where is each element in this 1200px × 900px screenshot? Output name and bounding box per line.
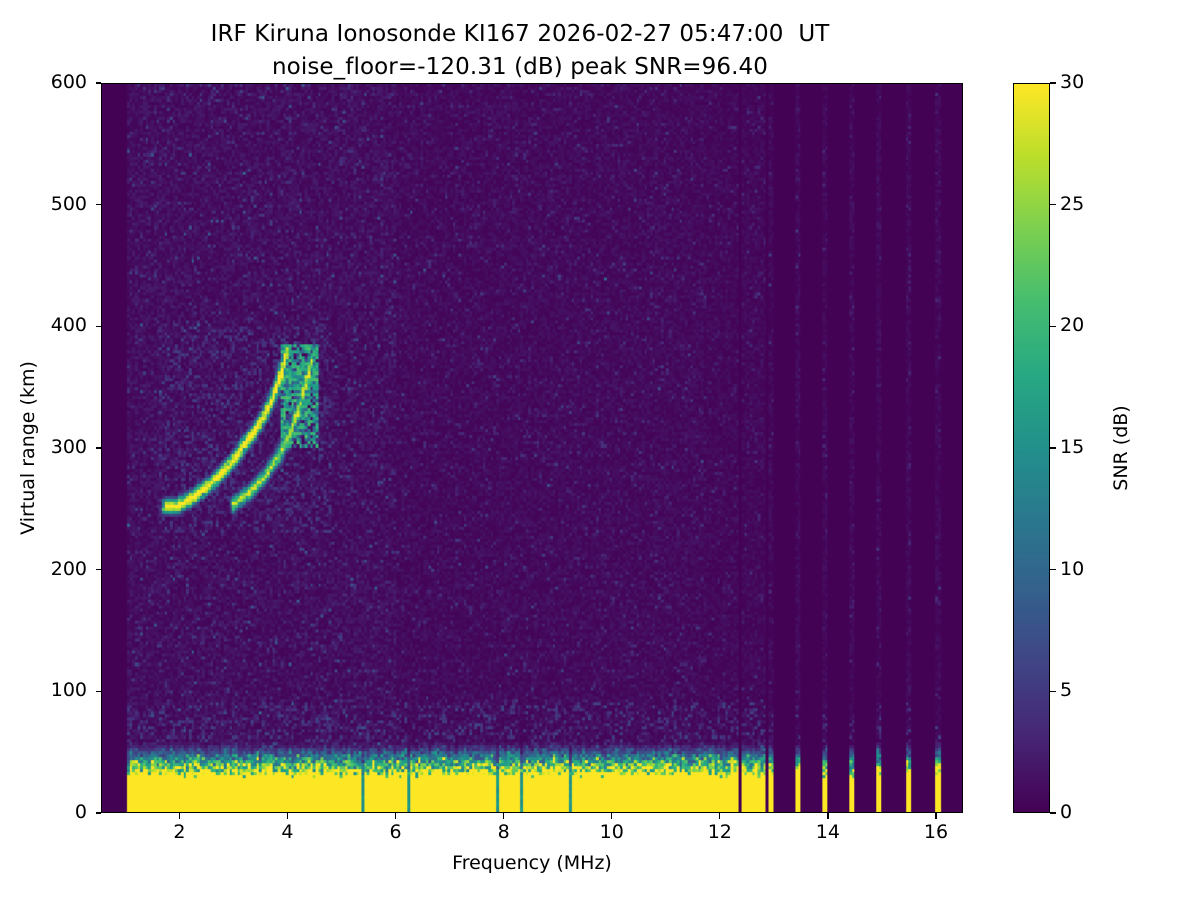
colorbar-tick-label: 10 <box>1060 560 1084 579</box>
y-tick-mark <box>96 204 102 205</box>
colorbar-tick-label: 15 <box>1060 438 1084 457</box>
colorbar-gradient <box>1014 84 1049 812</box>
colorbar-tick-label: 25 <box>1060 195 1084 214</box>
colorbar-tick-label: 0 <box>1060 803 1072 822</box>
ionogram-plot-area <box>101 83 963 813</box>
x-tick-mark <box>611 813 612 819</box>
colorbar-tick-mark <box>1050 204 1056 205</box>
y-tick-label: 100 <box>0 681 87 700</box>
x-tick-label: 2 <box>139 823 219 842</box>
y-tick-label: 600 <box>0 73 87 92</box>
y-tick-label: 300 <box>0 438 87 457</box>
y-tick-mark <box>96 569 102 570</box>
y-tick-label: 200 <box>0 560 87 579</box>
y-tick-mark <box>96 691 102 692</box>
title-line-2: noise_floor=-120.31 (dB) peak SNR=96.40 <box>0 51 1040 84</box>
x-tick-mark <box>719 813 720 819</box>
y-tick-mark <box>96 447 102 448</box>
x-tick-label: 8 <box>464 823 544 842</box>
x-tick-label: 6 <box>356 823 436 842</box>
y-tick-label: 500 <box>0 195 87 214</box>
x-tick-label: 10 <box>572 823 652 842</box>
y-tick-mark <box>96 326 102 327</box>
x-tick-mark <box>287 813 288 819</box>
colorbar-tick-label: 5 <box>1060 681 1072 700</box>
colorbar-tick-mark <box>1050 569 1056 570</box>
colorbar-label: SNR (dB) <box>1110 83 1132 813</box>
colorbar-tick-mark <box>1050 812 1056 813</box>
chart-title: IRF Kiruna Ionosonde KI167 2026-02-27 05… <box>0 18 1040 84</box>
y-axis-label: Virtual range (km) <box>17 83 39 813</box>
title-line-1: IRF Kiruna Ionosonde KI167 2026-02-27 05… <box>0 18 1040 51</box>
x-tick-mark <box>503 813 504 819</box>
colorbar-tick-label: 20 <box>1060 316 1084 335</box>
colorbar-tick-mark <box>1050 326 1056 327</box>
colorbar <box>1013 83 1050 813</box>
colorbar-tick-mark <box>1050 691 1056 692</box>
x-tick-mark <box>935 813 936 819</box>
x-tick-label: 12 <box>680 823 760 842</box>
x-tick-mark <box>395 813 396 819</box>
y-tick-mark <box>96 82 102 83</box>
x-tick-mark <box>827 813 828 819</box>
x-tick-label: 4 <box>247 823 327 842</box>
x-tick-label: 14 <box>788 823 868 842</box>
y-tick-mark <box>96 812 102 813</box>
x-tick-label: 16 <box>896 823 976 842</box>
x-tick-mark <box>179 813 180 819</box>
y-tick-label: 0 <box>0 803 87 822</box>
colorbar-tick-mark <box>1050 447 1056 448</box>
ionogram-heatmap <box>102 84 962 812</box>
colorbar-tick-mark <box>1050 82 1056 83</box>
x-axis-label: Frequency (MHz) <box>101 852 963 874</box>
y-tick-label: 400 <box>0 316 87 335</box>
colorbar-tick-label: 30 <box>1060 73 1084 92</box>
